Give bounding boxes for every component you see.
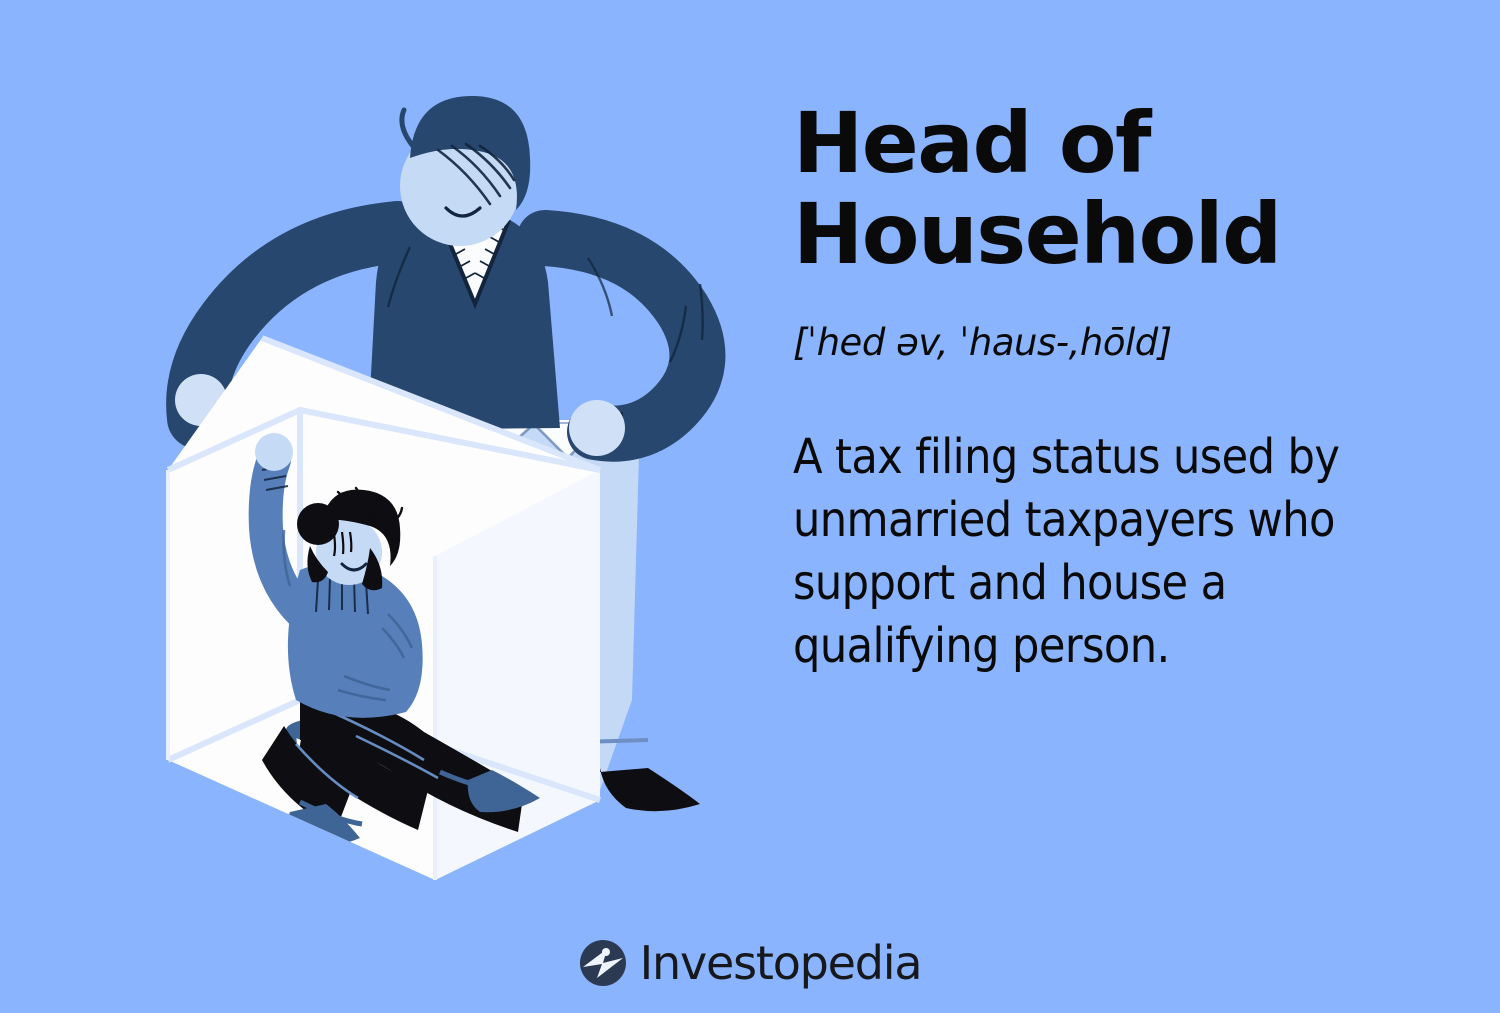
brand-name: Investopedia (640, 940, 922, 986)
head-of-household-illustration (0, 0, 760, 910)
standing-figure-right-arm (545, 238, 697, 434)
brand-footer: Investopedia (0, 939, 1500, 987)
definition-text: A tax filing status used by unmarried ta… (793, 426, 1403, 678)
infographic-card: Head of Household [ˈhed əv, ˈhaus-,hōld]… (0, 0, 1500, 1013)
pronunciation-text: [ˈhed əv, ˈhaus-,hōld] (793, 323, 1433, 364)
investopedia-logo-icon (579, 939, 627, 987)
standing-figure-right-hand (569, 400, 625, 456)
standing-figure-shoe-right (600, 768, 700, 811)
seated-figure-hand (255, 433, 293, 471)
definition-panel: Head of Household [ˈhed əv, ˈhaus-,hōld]… (793, 98, 1433, 678)
page-title: Head of Household (793, 98, 1433, 279)
